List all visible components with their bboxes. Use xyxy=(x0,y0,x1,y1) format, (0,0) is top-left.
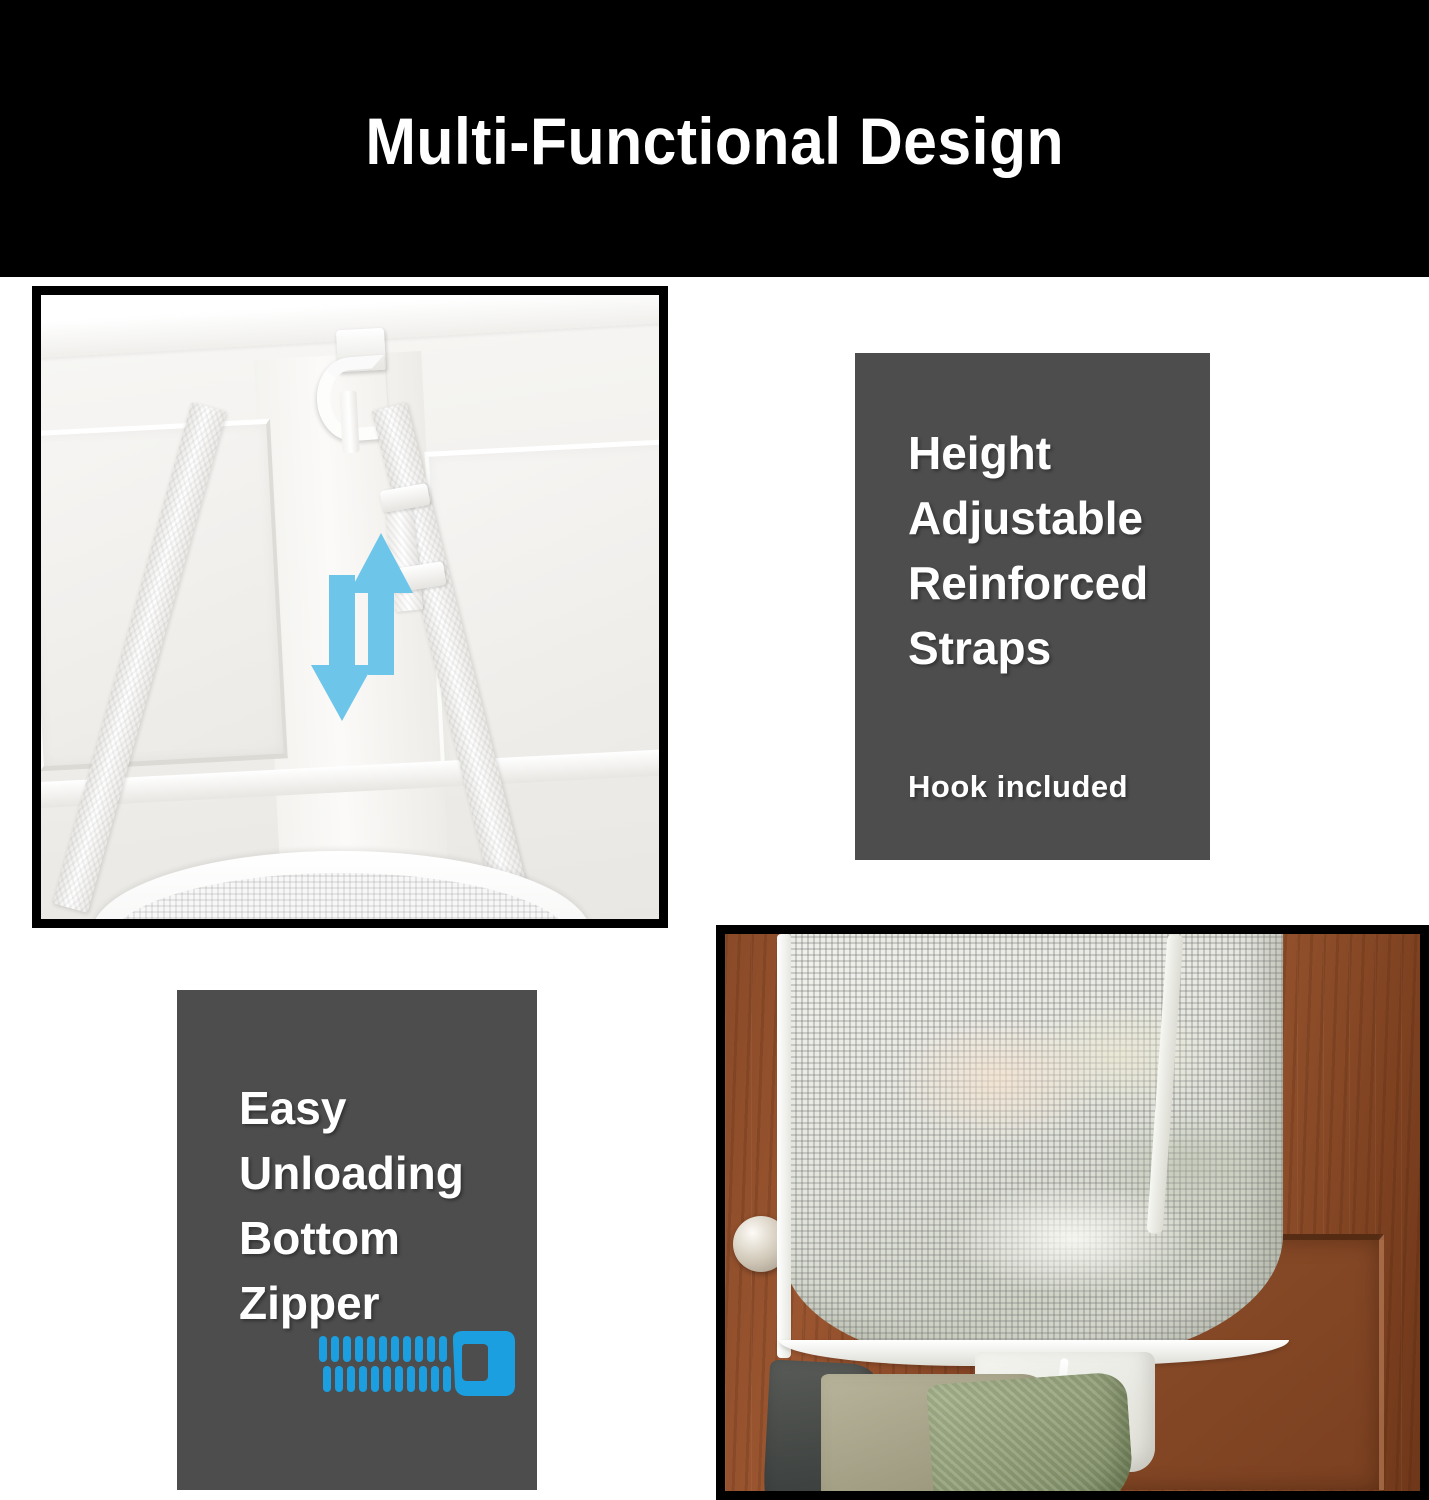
card-straps-line-2: Adjustable xyxy=(908,486,1148,551)
zipper-icon-wrapper xyxy=(317,1330,517,1400)
hamper-contents xyxy=(883,994,1263,1334)
card-straps-line-4: Straps xyxy=(908,616,1148,681)
card-straps-headline: Height Adjustable Reinforced Straps xyxy=(908,421,1148,681)
hamper-left-binding xyxy=(777,934,791,1358)
infographic-page: Multi-Functional Design xyxy=(0,0,1429,1500)
card-zipper-line-2: Unloading xyxy=(239,1141,464,1206)
card-easy-unloading-zipper: Easy Unloading Bottom Zipper xyxy=(177,990,537,1490)
page-title: Multi-Functional Design xyxy=(365,108,1064,174)
header-banner: Multi-Functional Design xyxy=(0,0,1429,277)
photo-hamper-on-door xyxy=(716,925,1429,1500)
mesh-hamper-body xyxy=(783,934,1283,1364)
up-down-arrows-icon xyxy=(309,525,429,725)
card-zipper-line-1: Easy xyxy=(239,1076,464,1141)
photo-door-hook xyxy=(32,286,668,928)
card-straps-subtext: Hook included xyxy=(908,767,1128,807)
card-height-adjustable-straps: Height Adjustable Reinforced Straps Hook… xyxy=(855,353,1210,860)
zipper-icon xyxy=(317,1330,517,1400)
card-zipper-line-4: Zipper xyxy=(239,1271,464,1336)
card-straps-line-3: Reinforced xyxy=(908,551,1148,616)
card-straps-line-1: Height xyxy=(908,421,1148,486)
photo-door-hook-image xyxy=(41,295,659,919)
photo-hamper-image xyxy=(725,934,1420,1491)
door-hook-stem xyxy=(339,391,359,454)
card-zipper-line-3: Bottom xyxy=(239,1206,464,1271)
cloth-green-towel xyxy=(926,1371,1136,1491)
card-zipper-headline: Easy Unloading Bottom Zipper xyxy=(239,1076,464,1336)
